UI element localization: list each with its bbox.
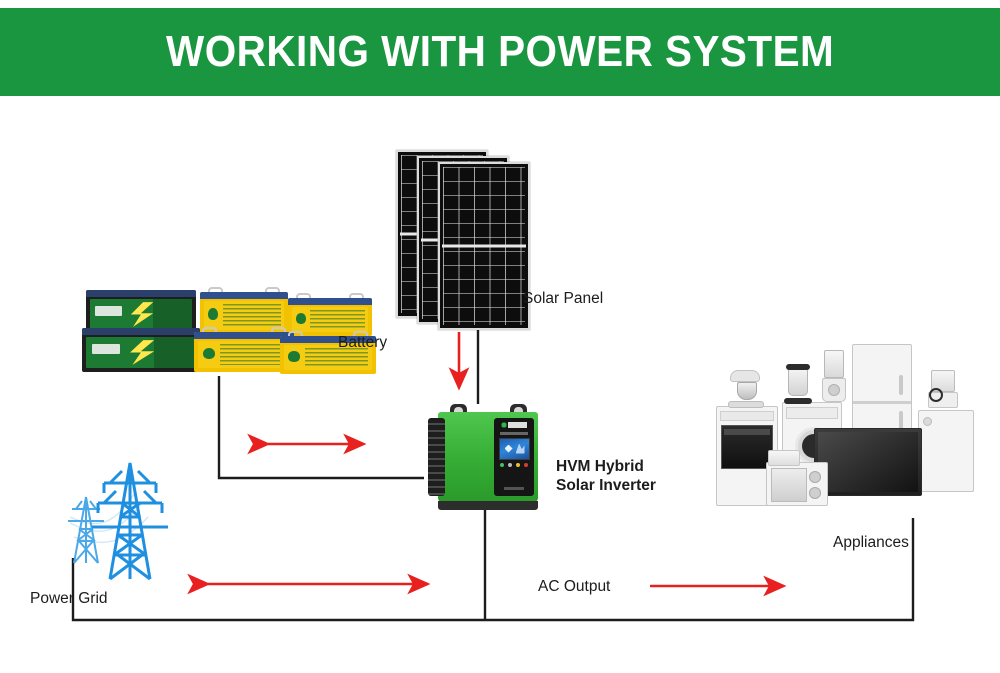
inverter-led-green[interactable]	[500, 463, 505, 468]
microwave-door	[771, 468, 807, 502]
solar-panel-3	[438, 162, 530, 330]
battery-label	[90, 299, 192, 330]
microwave-dial-bottom	[809, 487, 821, 499]
blender	[820, 350, 848, 404]
coffee-handle	[929, 388, 943, 402]
fridge-divider	[853, 401, 911, 404]
microwave	[766, 462, 828, 506]
oven-control-strip	[720, 411, 774, 421]
battery-label	[86, 337, 196, 368]
microwave-dial-top	[809, 471, 821, 483]
wire-main-bus	[73, 518, 913, 620]
fridge-handle-top	[899, 375, 903, 395]
label-power-grid: Power Grid	[30, 590, 108, 608]
inverter-button-1[interactable]	[508, 463, 513, 468]
blender-dial	[828, 384, 840, 396]
battery-lead-acid-3	[194, 332, 294, 372]
battery-cap	[86, 290, 196, 297]
battery-label	[292, 307, 368, 332]
inverter-led-red[interactable]	[524, 463, 529, 468]
label-solar-panel: Solar Panel	[523, 290, 603, 308]
label-inverter-line1: HVM Hybrid	[556, 457, 656, 476]
battery-bank[interactable]	[82, 286, 344, 372]
label-ac-output: AC Output	[538, 578, 610, 596]
battery-cap	[288, 298, 372, 305]
tv-screen	[818, 432, 918, 492]
washer-control-panel	[786, 407, 838, 419]
inverter-model-badge	[504, 487, 524, 490]
battery-lithium-2	[82, 328, 200, 372]
inverter-model-text	[500, 432, 528, 435]
battery-label	[198, 341, 290, 368]
power-grid-towers[interactable]	[52, 451, 182, 591]
battery-cap	[82, 328, 200, 335]
kettle-lid	[786, 364, 810, 370]
inverter-led-yellow[interactable]	[516, 463, 521, 468]
battery-label	[204, 301, 284, 330]
sandwich-press	[768, 450, 800, 466]
diagram-page: WORKING WITH POWER SYSTEM	[0, 0, 1000, 673]
mixer-head	[730, 370, 760, 382]
hvm-hybrid-solar-inverter[interactable]	[424, 404, 546, 510]
coffee-maker	[926, 370, 960, 412]
mixer-base	[728, 401, 764, 408]
inverter-lcd-screen	[499, 438, 530, 460]
dishwasher-dial	[923, 417, 932, 426]
system-diagram: Solar Panel	[0, 96, 1000, 673]
electric-kettle	[784, 364, 814, 404]
appliance-cluster[interactable]	[716, 332, 988, 514]
blender-jar	[824, 350, 844, 378]
inverter-button-row[interactable]	[500, 463, 529, 468]
stand-mixer	[728, 370, 768, 408]
label-inverter-line2: Solar Inverter	[556, 476, 656, 495]
television	[814, 428, 922, 496]
kettle-body	[788, 368, 808, 396]
transmission-tower-icon	[52, 451, 182, 591]
solar-panel-divider	[442, 245, 526, 248]
kettle-base	[784, 398, 812, 404]
label-battery: Battery	[338, 334, 387, 352]
oven-handle	[724, 429, 770, 435]
wire-battery-to-inverter	[219, 376, 424, 478]
mixer-bowl	[737, 382, 757, 400]
label-appliances: Appliances	[833, 534, 909, 552]
inverter-control-panel[interactable]	[494, 418, 534, 496]
battery-cap	[200, 292, 288, 299]
page-header: WORKING WITH POWER SYSTEM	[0, 8, 1000, 96]
battery-cap	[194, 332, 294, 339]
inverter-bottom-bar	[438, 501, 538, 510]
solar-panel-array[interactable]	[396, 150, 536, 330]
inverter-heatsink-fins	[428, 418, 445, 496]
page-title: WORKING WITH POWER SYSTEM	[166, 27, 834, 77]
label-inverter: HVM Hybrid Solar Inverter	[556, 457, 656, 495]
brand-logo-icon	[501, 422, 527, 428]
dishwasher	[918, 410, 974, 492]
